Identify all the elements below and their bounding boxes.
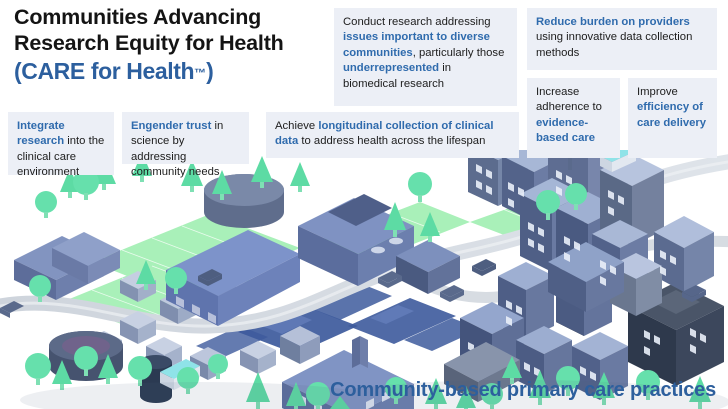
title-acronym-close: ) — [206, 58, 213, 84]
callout-engender-trust: Engender trust in science by addressing … — [122, 112, 249, 164]
title-line-1: Communities Advancing — [14, 5, 261, 29]
page-title: Communities Advancing Research Equity fo… — [14, 4, 334, 88]
callout-segment-emphasis: efficiency of care delivery — [637, 101, 706, 128]
callout-segment: Conduct research addressing — [343, 16, 491, 28]
callout-segment: Achieve — [275, 120, 318, 132]
illustration-caption: Community-based primary care practices — [330, 378, 716, 402]
callout-segment: Improve — [637, 86, 678, 98]
callout-conduct-research: Conduct research addressing issues impor… — [334, 8, 517, 106]
callout-increase-adherence: Increase adherence to evidence-based car… — [527, 78, 620, 158]
callout-integrate-research: Integrate research into the clinical car… — [8, 112, 114, 175]
city-building-group — [396, 150, 724, 402]
callout-segment: to address health across the lifespan — [298, 135, 485, 147]
callout-segment: , particularly those — [413, 47, 505, 59]
callout-segment-emphasis: Engender trust — [131, 120, 211, 132]
isometric-community-city-illustration — [0, 150, 728, 409]
callout-segment-emphasis: Integrate research — [17, 120, 65, 147]
callout-improve-efficiency: Improve efficiency of care delivery — [628, 78, 717, 158]
trademark-symbol: ™ — [194, 66, 206, 80]
callout-segment-emphasis: underrepresented — [343, 62, 439, 74]
title-acronym-open: (CARE for Health — [14, 58, 194, 84]
callout-achieve-longitudinal-data: Achieve longitudinal collection of clini… — [266, 112, 519, 158]
callout-segment: using innovative data collection methods — [536, 31, 692, 58]
callout-reduce-burden: Reduce burden on providers using innovat… — [527, 8, 717, 70]
callout-segment-emphasis: Reduce burden on providers — [536, 16, 690, 28]
infographic-canvas: Communities Advancing Research Equity fo… — [0, 0, 728, 409]
title-acronym: (CARE for Health™) — [14, 57, 334, 88]
callout-segment-emphasis: evidence-based care — [536, 117, 595, 144]
callout-segment: Increase adherence to — [536, 86, 602, 113]
title-line-2: Research Equity for Health — [14, 31, 284, 55]
